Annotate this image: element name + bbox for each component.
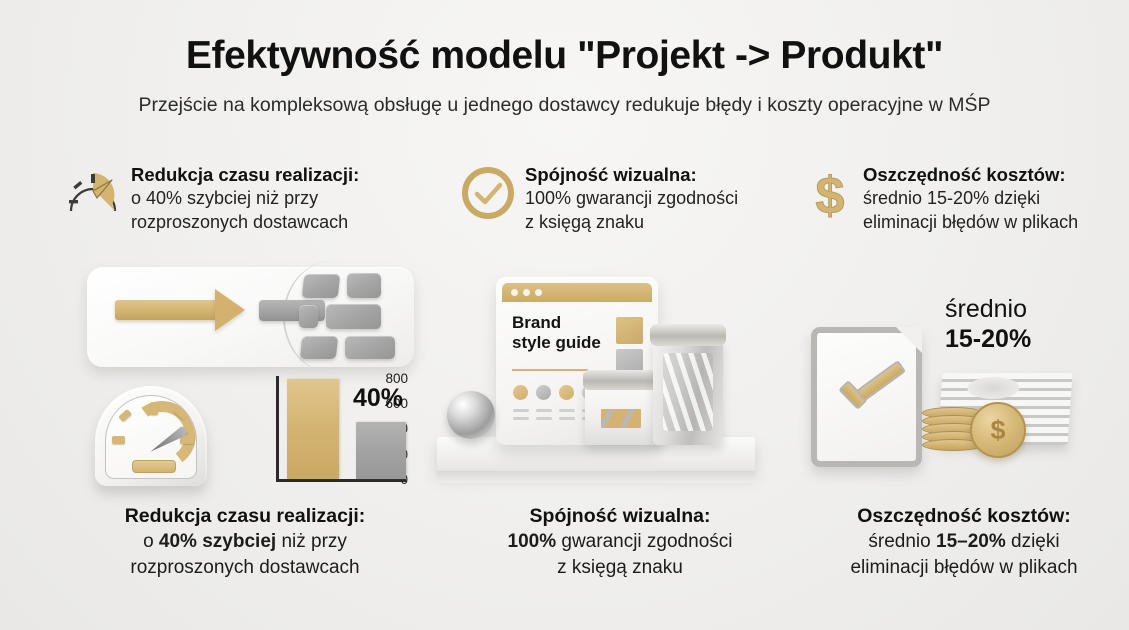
brand-color-block-gold <box>616 317 643 344</box>
caption-line-2: eliminacji błędów w plikach <box>799 555 1129 581</box>
grid-tile <box>300 336 338 359</box>
window-dot-icon <box>523 289 530 296</box>
caption-row: Redukcja czasu realizacji: o 40% szybcie… <box>0 503 1129 581</box>
brand-guide-divider <box>512 369 588 371</box>
gold-arrow-head <box>215 289 245 331</box>
caption-title: Spójność wizualna: <box>455 503 785 529</box>
caption-post: gwarancji zgodności <box>556 531 732 552</box>
feature-title: Oszczędność kosztów: <box>863 163 1078 187</box>
gauge-tick <box>150 402 158 415</box>
brand-guide-heading: Brand style guide <box>512 313 622 352</box>
swatch-caption-line <box>536 417 552 420</box>
caption-line-2: rozproszonych dostawcach <box>45 555 445 581</box>
swatch-caption-line <box>559 409 575 412</box>
document-with-check <box>811 327 922 467</box>
grid-tile <box>326 304 381 329</box>
product-jar-tall <box>653 339 723 445</box>
dollar-sign-icon: $ <box>808 167 852 223</box>
swatch-caption-line <box>559 417 575 420</box>
jar-brand-stripe <box>601 409 641 428</box>
feature-line-1: o 40% szybciej niż przy <box>131 187 359 211</box>
caption-highlight: 15–20% <box>936 531 1006 552</box>
check-stroke-long <box>856 360 906 402</box>
gauge-tick <box>118 409 132 422</box>
check-circle-icon <box>462 167 514 219</box>
svg-text:$: $ <box>816 167 845 223</box>
feature-text: Spójność wizualna: 100% gwarancji zgodno… <box>525 163 738 235</box>
checkmark-icon <box>837 372 907 412</box>
feature-text: Oszczędność kosztów: średnio 15-20% dzię… <box>863 163 1078 235</box>
gauge-face <box>105 395 197 479</box>
window-dot-icon <box>511 289 518 296</box>
swatch-caption-line <box>536 409 552 412</box>
feature-row: Redukcja czasu realizacji: o 40% szybcie… <box>0 163 1129 235</box>
savings-callout-line-1: średnio <box>945 295 1115 325</box>
caption-pre: średnio <box>868 531 936 552</box>
jar-lid <box>650 324 726 346</box>
gauge-icon <box>66 167 120 217</box>
chrome-sphere <box>447 391 495 439</box>
jar-pattern <box>663 353 713 431</box>
grid-tile <box>347 273 381 298</box>
feature-line-1: średnio 15-20% dzięki <box>863 187 1078 211</box>
brand-guide-heading-line-1: Brand <box>512 313 561 332</box>
page-title: Efektywność modelu "Projekt -> Produkt" <box>0 36 1129 77</box>
window-titlebar <box>502 283 652 302</box>
feature-title: Spójność wizualna: <box>525 163 738 187</box>
bar-chart: 800 600 400 200 0 40% <box>243 372 408 492</box>
caption-post: niż przy <box>276 531 347 552</box>
savings-callout-line-2: 15-20% <box>945 325 1115 355</box>
grid-tile <box>299 305 318 328</box>
caption-pre: o <box>143 531 159 552</box>
infographic-canvas: Efektywność modelu "Projekt -> Produkt" … <box>0 0 1129 630</box>
grid-tile <box>302 274 341 298</box>
caption-post: dzięki <box>1006 531 1060 552</box>
header: Efektywność modelu "Projekt -> Produkt" … <box>0 36 1129 117</box>
illustration-band: 800 600 400 200 0 40% Brand styl <box>0 255 1129 500</box>
caption-cost-savings: Oszczędność kosztów: średnio 15–20% dzię… <box>799 503 1129 581</box>
window-dot-icon <box>535 289 542 296</box>
swatch-caption-line <box>513 417 529 420</box>
chart-annotation-40pct: 40% <box>353 384 403 413</box>
grid-tile <box>345 336 395 359</box>
savings-scene: średnio 15-20% $ <box>800 255 1129 500</box>
feature-line-2: rozproszonych dostawcach <box>131 211 359 235</box>
gold-arrow-shaft <box>115 300 223 320</box>
gauge-tick <box>112 436 125 444</box>
caption-line-2: z księgą znaku <box>455 555 785 581</box>
feature-line-2: eliminacji błędów w plikach <box>863 211 1078 235</box>
feature-time-reduction: Redukcja czasu realizacji: o 40% szybcie… <box>66 163 426 235</box>
swatch-caption-line <box>513 409 529 412</box>
feature-line-1: 100% gwarancji zgodności <box>525 187 738 211</box>
coin-dollar-icon: $ <box>972 404 1024 456</box>
caption-visual-consistency: Spójność wizualna: 100% gwarancji zgodno… <box>455 503 785 581</box>
caption-line-1: o 40% szybciej niż przy <box>45 529 445 555</box>
caption-line-1: 100% gwarancji zgodności <box>455 529 785 555</box>
gauge-3d-graphic <box>95 386 207 486</box>
gauge-display-slot <box>132 460 176 473</box>
brand-guide-scene: Brand style guide <box>425 255 775 500</box>
caption-time-reduction: Redukcja czasu realizacji: o 40% szybcie… <box>45 503 445 581</box>
brand-guide-heading-line-2: style guide <box>512 333 601 352</box>
caption-highlight: 100% <box>508 531 557 552</box>
page-subtitle: Przejście na kompleksową obsługę u jedne… <box>0 94 1129 117</box>
chart-y-axis <box>276 376 279 479</box>
coin-front: $ <box>970 402 1026 458</box>
feature-visual-consistency: Spójność wizualna: 100% gwarancji zgodno… <box>462 163 792 235</box>
color-swatch <box>536 385 551 400</box>
workflow-arrow-graphic <box>87 267 414 367</box>
feature-line-2: z księgą znaku <box>525 211 738 235</box>
color-swatch <box>513 385 528 400</box>
caption-line-1: średnio 15–20% dzięki <box>799 529 1129 555</box>
jar-lid <box>583 370 663 390</box>
savings-callout: średnio 15-20% <box>945 295 1115 354</box>
caption-title: Redukcja czasu realizacji: <box>45 503 445 529</box>
product-jar-small <box>585 383 661 445</box>
color-swatch <box>559 385 574 400</box>
chart-x-axis <box>276 479 406 482</box>
bar-series-2 <box>356 422 406 479</box>
caption-highlight: 40% szybciej <box>159 531 276 552</box>
caption-title: Oszczędność kosztów: <box>799 503 1129 529</box>
feature-text: Redukcja czasu realizacji: o 40% szybcie… <box>131 163 359 235</box>
bar-series-1 <box>287 379 339 479</box>
feature-title: Redukcja czasu realizacji: <box>131 163 359 187</box>
feature-cost-savings: $ Oszczędność kosztów: średnio 15-20% dz… <box>808 163 1108 235</box>
